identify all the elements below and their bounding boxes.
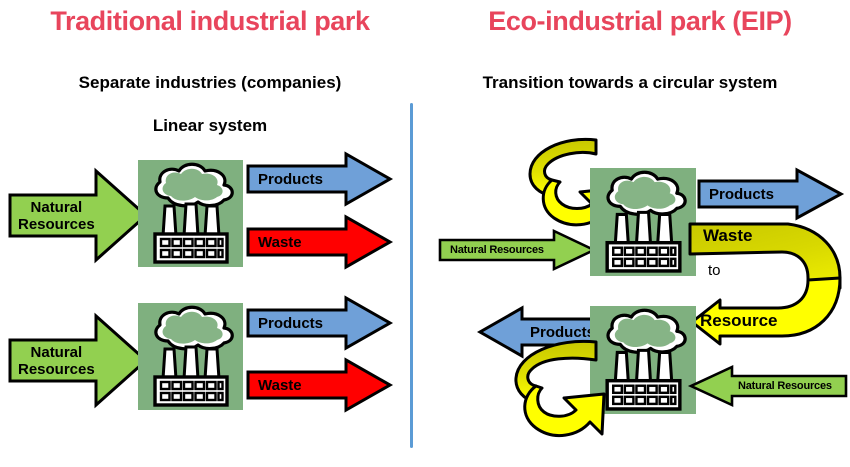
arrow-products-r1: Products <box>697 168 843 220</box>
factory-icon-l1 <box>138 160 243 267</box>
label-waste-loop: Waste <box>703 226 752 246</box>
diagram-canvas: Traditional industrial park Eco-industri… <box>0 0 850 467</box>
subtitle-linear-system: Linear system <box>10 115 410 137</box>
arrow-waste-l2: Waste <box>246 358 392 412</box>
page-title-right: Eco-industrial park (EIP) <box>430 6 850 37</box>
arrow-natural-resources-l2: Natural Resources <box>8 312 148 409</box>
loop-arrow-recycle-bottom <box>496 338 614 456</box>
factory-icon-r1 <box>590 168 696 276</box>
page-title-left: Traditional industrial park <box>0 6 420 37</box>
label-resource-loop: Resource <box>700 311 777 331</box>
label-to-connector: to <box>708 262 721 279</box>
arrow-waste-l1: Waste <box>246 215 392 269</box>
factory-icon-l2 <box>138 303 243 410</box>
arrow-products-l2: Products <box>246 296 392 350</box>
arrow-natural-resources-l1: Natural Resources <box>8 167 148 264</box>
subtitle-separate-industries: Separate industries (companies) <box>10 72 410 94</box>
subtitle-circular-system: Transition towards a circular system <box>455 72 805 94</box>
arrow-products-l1: Products <box>246 152 392 206</box>
arrow-natural-resources-r1: Natural Resources <box>438 228 596 272</box>
panel-divider <box>410 103 413 448</box>
arrow-natural-resources-r2: Natural Resources <box>688 364 848 408</box>
